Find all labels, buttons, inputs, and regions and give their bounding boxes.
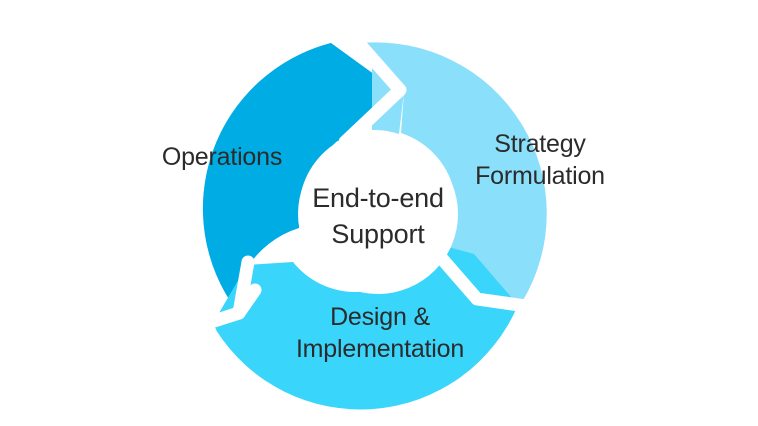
diagram-canvas: Operations Strategy Formulation Design &…: [0, 0, 758, 426]
label-design-line1: Design &: [330, 303, 430, 331]
cycle-diagram-svg: Operations Strategy Formulation Design &…: [0, 0, 758, 426]
label-operations: Operations: [162, 143, 282, 171]
label-design-line2: Implementation: [296, 335, 464, 363]
label-strategy-line1: Strategy: [494, 130, 586, 158]
center-hub: [298, 134, 458, 294]
center-label-line2: Support: [331, 219, 425, 249]
label-strategy-line2: Formulation: [475, 162, 605, 190]
center-label-line1: End-to-end: [312, 183, 444, 213]
